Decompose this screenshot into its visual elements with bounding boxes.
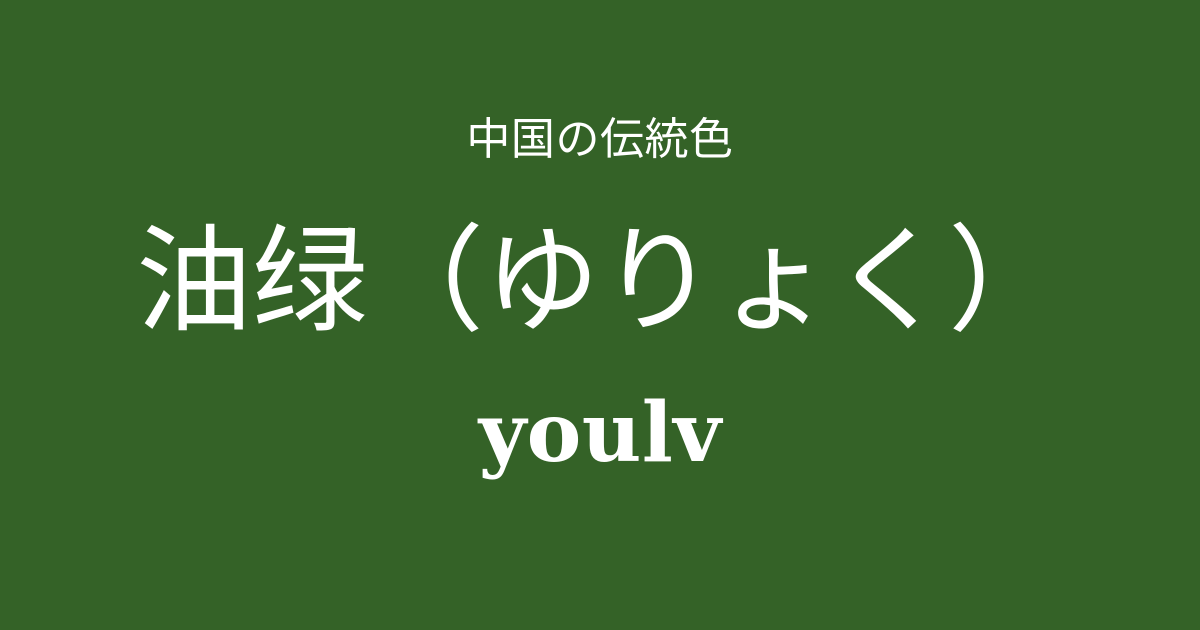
color-ogp-card: 中国の伝統色 油绿（ゆりょく） youlv (0, 0, 1200, 630)
card-content: 中国の伝統色 油绿（ゆりょく） youlv (0, 0, 1200, 474)
color-romaji: youlv (479, 392, 722, 474)
category-label: 中国の伝統色 (466, 118, 733, 162)
page-title: 油绿（ゆりょく） (136, 224, 1064, 340)
